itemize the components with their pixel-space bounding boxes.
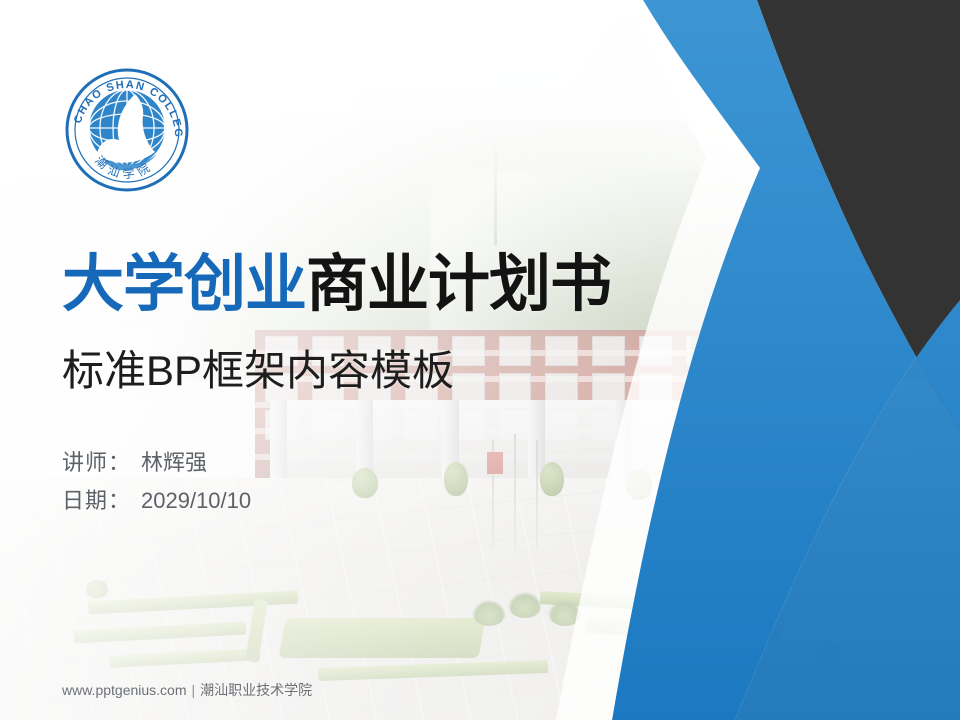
footer-site[interactable]: www.pptgenius.com (62, 682, 187, 698)
presentation-meta: 讲师：林辉强 日期：2029/10/10 (62, 444, 251, 520)
title-highlight: 大学创业 (62, 250, 306, 319)
title-rest: 商业计划书 (306, 250, 611, 319)
date-label: 日期： (62, 488, 131, 513)
date-line: 日期：2029/10/10 (62, 482, 251, 520)
college-logo: CHAO SHAN COLLEGE 潮汕学院 (63, 66, 191, 194)
date-value: 2029/10/10 (141, 488, 251, 513)
presentation-slide: CHAO SHAN COLLEGE 潮汕学院 大学创业商业计划书 标准BP框架内… (0, 0, 960, 720)
slide-footer: www.pptgenius.com|潮汕职业技术学院 (62, 680, 312, 700)
page-subtitle: 标准BP框架内容模板 (62, 350, 454, 392)
presenter-value: 林辉强 (141, 450, 207, 475)
presenter-line: 讲师：林辉强 (62, 444, 251, 482)
page-title: 大学创业商业计划书 (62, 254, 611, 316)
footer-school: 潮汕职业技术学院 (200, 682, 312, 698)
footer-separator: | (192, 682, 196, 698)
presenter-label: 讲师： (62, 450, 131, 475)
